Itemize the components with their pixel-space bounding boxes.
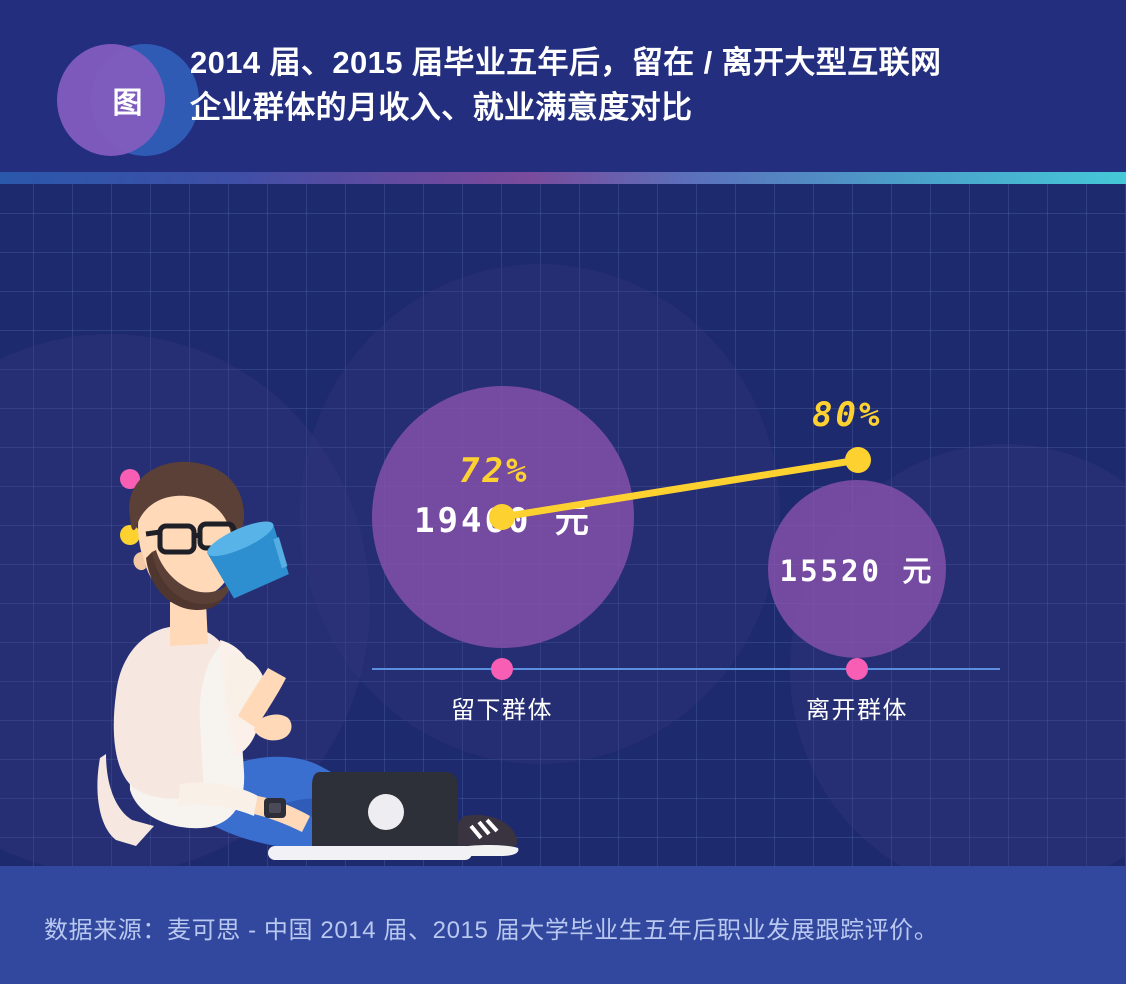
chart-area: 月收入 就业满意度 19460 元 15520 元 72% 80% 留下群体 离…	[0, 184, 1126, 866]
satisfaction-label-leave: 80%	[812, 395, 882, 435]
infographic-root: 图 2014 届、2015 届毕业五年后，留在 / 离开大型互联网 企业群体的月…	[0, 0, 1126, 984]
axis-marker-leave	[846, 658, 868, 680]
income-value-leave: 15520 元	[780, 548, 935, 590]
laptop-logo	[368, 794, 404, 830]
page-title: 2014 届、2015 届毕业五年后，留在 / 离开大型互联网 企业群体的月收入…	[190, 40, 1090, 130]
income-bubble-leave: 15520 元	[768, 480, 946, 658]
category-label-leave: 离开群体	[747, 690, 967, 725]
header-badge: 图	[57, 44, 183, 156]
header-bar: 图 2014 届、2015 届毕业五年后，留在 / 离开大型互联网 企业群体的月…	[0, 0, 1126, 172]
footer-bar: 数据来源：麦可思 - 中国 2014 届、2015 届大学毕业生五年后职业发展跟…	[0, 866, 1126, 984]
page-title-line-1: 2014 届、2015 届毕业五年后，留在 / 离开大型互联网	[190, 40, 1090, 85]
badge-label: 图	[57, 44, 199, 156]
page-title-line-2: 企业群体的月收入、就业满意度对比	[190, 85, 1090, 130]
illustration-man-drinking-coffee	[20, 454, 540, 866]
data-source-text: 数据来源：麦可思 - 中国 2014 届、2015 届大学毕业生五年后职业发展跟…	[44, 910, 939, 945]
watch-face	[269, 803, 281, 813]
laptop-base	[268, 846, 472, 860]
gradient-divider	[0, 172, 1126, 184]
